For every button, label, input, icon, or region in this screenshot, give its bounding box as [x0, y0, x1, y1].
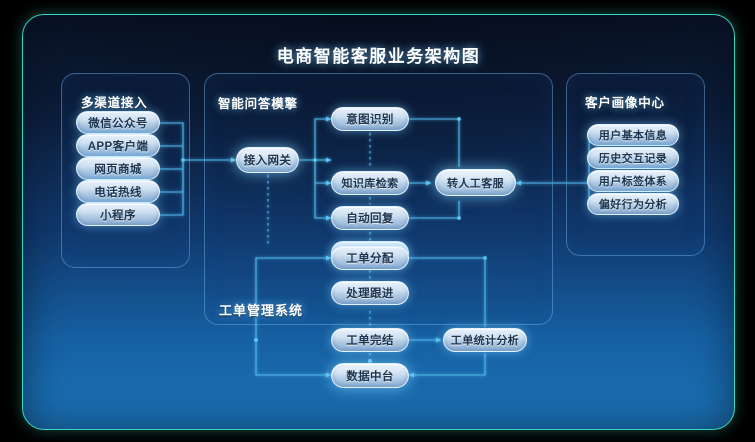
node-user-tag-system[interactable]: 用户标签体系	[587, 170, 679, 192]
node-mini-program[interactable]: 小程序	[76, 203, 160, 226]
node-wechat-official[interactable]: 微信公众号	[76, 111, 160, 134]
node-auto-reply[interactable]: 自动回复	[331, 206, 409, 230]
node-ticket-assign[interactable]: 工单分配	[331, 246, 409, 270]
node-transfer-to-human[interactable]: 转人工客服	[435, 169, 516, 196]
node-ticket-close[interactable]: 工单完结	[331, 328, 409, 352]
node-phone-hotline[interactable]: 电话热线	[76, 180, 160, 203]
node-knowledge-retrieval[interactable]: 知识库检索	[331, 171, 409, 195]
page-title: 电商智能客服业务架构图	[23, 42, 734, 67]
ticket-system-label: 工单管理系统	[219, 300, 303, 319]
node-web-mall[interactable]: 网页商城	[76, 157, 160, 180]
node-app-client[interactable]: APP客户端	[76, 134, 160, 157]
node-interaction-history[interactable]: 历史交互记录	[587, 147, 679, 169]
diagram-canvas: 电商智能客服业务架构图 多渠道接入 智能问答模擎 客户画像中心	[0, 0, 755, 442]
node-data-hub[interactable]: 数据中台	[331, 363, 409, 388]
diagram-frame: 电商智能客服业务架构图 多渠道接入 智能问答模擎 客户画像中心	[22, 14, 735, 430]
node-preference-analysis[interactable]: 偏好行为分析	[587, 193, 679, 215]
node-intent-recognition[interactable]: 意图识别	[331, 107, 409, 131]
node-user-basic-info[interactable]: 用户基本信息	[587, 124, 679, 146]
node-ticket-statistics[interactable]: 工单统计分析	[443, 328, 527, 352]
panel-engine-title: 智能问答模擎	[218, 93, 298, 112]
node-access-gateway[interactable]: 接入网关	[236, 147, 299, 173]
panel-profile-title: 客户画像中心	[585, 92, 665, 111]
node-process-followup[interactable]: 处理跟进	[331, 281, 409, 305]
panel-channels-title: 多渠道接入	[81, 92, 148, 111]
